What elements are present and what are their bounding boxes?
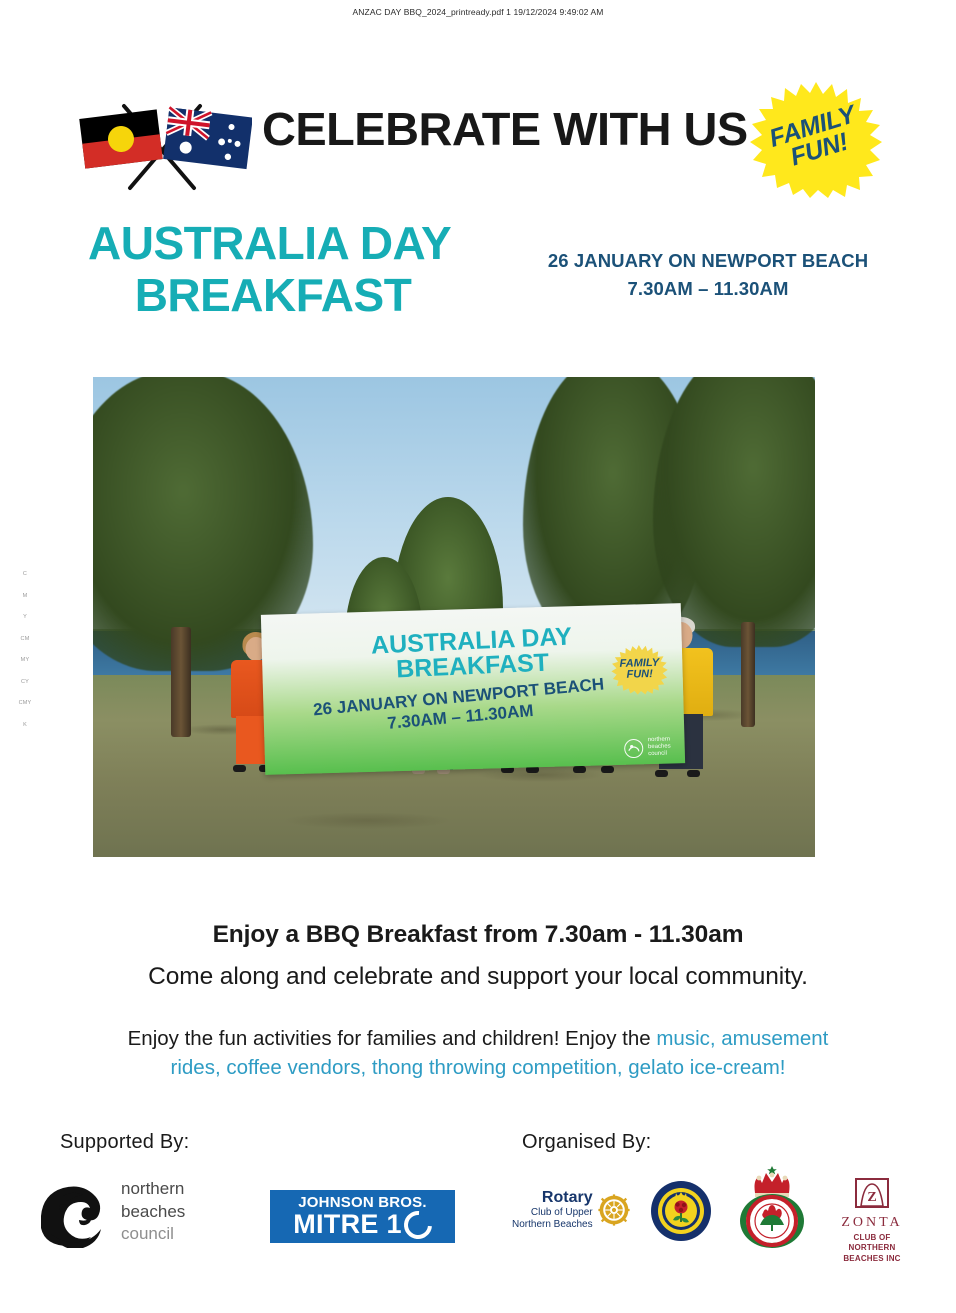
- color-bar-label-cy: CY: [21, 680, 29, 686]
- logo-nsw-state-emergency-service[interactable]: [650, 1180, 712, 1242]
- rotary-words: Rotary Club of Upper Northern Beaches: [512, 1190, 593, 1231]
- title-line-1: AUSTRALIA DAY: [88, 218, 508, 270]
- color-bar-label-y: Y: [23, 615, 27, 621]
- photo-banner-council-mark-icon: [624, 738, 645, 759]
- print-header-text: ANZAC DAY BBQ_2024_printready.pdf 1 19/1…: [0, 7, 956, 17]
- supported-by-label: Supported By:: [60, 1131, 189, 1154]
- person-6-shoe-left: [655, 770, 668, 777]
- australian-flag-icon: [163, 107, 252, 169]
- photo-banner-council-line3: council: [648, 751, 671, 759]
- celebrate-heading: CELEBRATE WITH US: [262, 102, 748, 156]
- photo-banner-badge-line2: FUN!: [626, 669, 653, 681]
- event-photo: AUSTRALIA DAY BREAKFAST 26 JANUARY ON NE…: [93, 377, 815, 857]
- pine-trunk-left: [171, 627, 191, 737]
- poster-title: AUSTRALIA DAY BREAKFAST: [88, 218, 508, 322]
- organised-by-label: Organised By:: [522, 1131, 651, 1154]
- northern-beaches-council-mark-icon: [33, 1176, 111, 1248]
- mitre-line-2: MITRE 1: [293, 1211, 432, 1239]
- cmyk-color-bar: C M Y CM MY CY CMY K: [12, 572, 38, 728]
- copy-subhead: Come along and celebrate and support you…: [0, 963, 956, 991]
- photo-held-banner: AUSTRALIA DAY BREAKFAST 26 JANUARY ON NE…: [261, 603, 685, 775]
- color-bar-label-k: K: [23, 723, 27, 729]
- logo-nsw-rural-fire-service[interactable]: [733, 1163, 811, 1251]
- copy-activities: Enjoy the fun activities for families an…: [0, 1024, 956, 1082]
- zonta-emblem-icon: Z: [855, 1178, 889, 1208]
- logo-rotary-club-upper-northern-beaches[interactable]: Rotary Club of Upper Northern Beaches: [512, 1190, 630, 1231]
- title-line-2: BREAKFAST: [88, 270, 508, 322]
- person-5-shoe-left: [573, 766, 586, 773]
- zonta-wordmark: ZONTA: [822, 1216, 922, 1230]
- rotary-gear-wheel-icon: [598, 1194, 630, 1226]
- color-bar-label-cmy: CMY: [19, 701, 32, 707]
- event-when-where: 26 JANUARY ON NEWPORT BEACH 7.30AM – 11.…: [508, 250, 908, 300]
- mitre-line-2-text: MITRE 1: [293, 1211, 402, 1238]
- starburst-shape-icon: [748, 80, 884, 198]
- crossed-flags-icon: [72, 88, 252, 198]
- rotary-line-2: Club of Upper: [512, 1207, 593, 1219]
- rotary-line-3: Northern Beaches: [512, 1219, 593, 1231]
- rotary-line-1: Rotary: [512, 1190, 593, 1207]
- svg-text:Z: Z: [867, 1190, 876, 1205]
- aboriginal-flag-icon: [79, 109, 163, 168]
- person-1-shoe-left: [233, 765, 246, 772]
- family-fun-badge: FAMILY FUN!: [748, 80, 884, 198]
- mitre-zero-icon: [398, 1205, 437, 1244]
- logo-northern-beaches-council[interactable]: northern beaches council: [33, 1176, 185, 1248]
- color-bar-label-cm: CM: [21, 637, 30, 643]
- copy-activities-plain: Enjoy the fun activities for families an…: [128, 1027, 657, 1050]
- pine-trunk-right-b: [741, 622, 755, 727]
- person-5-shoe-right: [601, 766, 614, 773]
- event-location-line: 26 JANUARY ON NEWPORT BEACH: [508, 250, 908, 272]
- mitre-line-1: JOHNSON BROS.: [298, 1195, 426, 1210]
- zonta-sub-3: BEACHES INC: [822, 1254, 922, 1264]
- logo-johnson-bros-mitre-10[interactable]: JOHNSON BROS. MITRE 1: [270, 1190, 455, 1243]
- northern-beaches-council-words: northern beaches council: [121, 1178, 185, 1246]
- logo-zonta-club-of-northern-beaches[interactable]: Z ZONTA CLUB OF NORTHERN BEACHES INC: [822, 1178, 922, 1264]
- nbc-line-1: northern: [121, 1178, 185, 1201]
- photo-banner-council-logo: northern beaches council: [624, 737, 671, 759]
- event-time-line: 7.30AM – 11.30AM: [508, 278, 908, 300]
- zonta-sub-lines: CLUB OF NORTHERN BEACHES INC: [822, 1233, 922, 1264]
- color-bar-label-my: MY: [21, 658, 30, 664]
- color-bar-label-c: C: [23, 572, 27, 578]
- color-bar-label-m: M: [23, 594, 28, 600]
- nbc-line-3: council: [121, 1223, 185, 1246]
- copy-headline: Enjoy a BBQ Breakfast from 7.30am - 11.3…: [0, 921, 956, 949]
- zonta-sub-1: CLUB OF: [822, 1233, 922, 1243]
- photo-banner-council-words: northern beaches council: [648, 737, 671, 758]
- nbc-line-2: beaches: [121, 1201, 185, 1224]
- zonta-sub-2: NORTHERN: [822, 1243, 922, 1253]
- photo-banner-family-fun-badge: FAMILY FUN!: [610, 640, 670, 700]
- person-6-shoe-right: [687, 770, 700, 777]
